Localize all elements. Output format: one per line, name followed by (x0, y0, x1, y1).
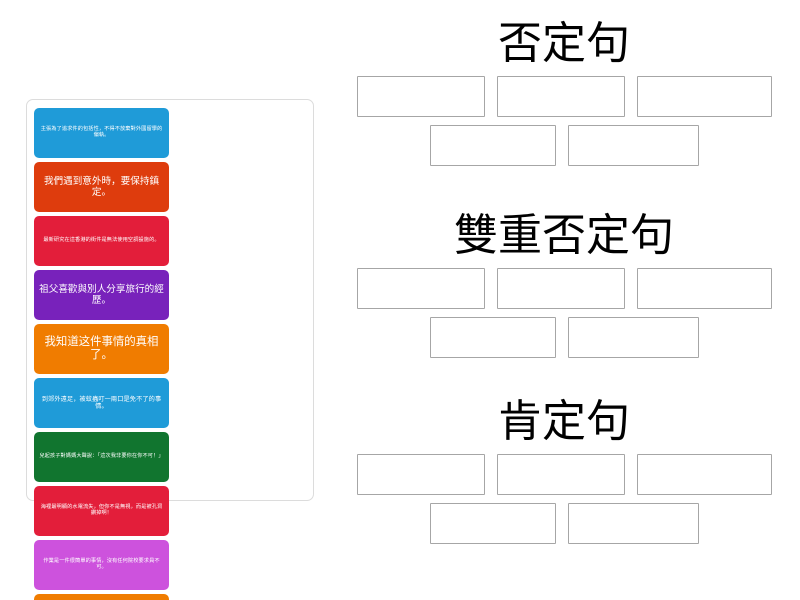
drop-slot-row (352, 268, 776, 309)
drop-slot[interactable] (357, 454, 485, 495)
sentence-tile[interactable]: 我知道这件事情的真相了。 (34, 324, 169, 374)
drop-slot-row (352, 454, 776, 495)
sentence-tile-label: 祖父喜歡與別人分享旅行的經歷。 (39, 284, 164, 306)
activity-canvas: 主張為了追求件的包括性，不得不放棄對外國留學的偏執。我們遇到意外時，要保持鎮定。… (0, 0, 800, 600)
drop-slot[interactable] (430, 125, 556, 166)
sentence-tile-label: 最新研究在這香港的街件是無法使用空調設施的。 (39, 238, 164, 244)
sentence-tile-label: 兒起孩子對媽媽大聲說：「這次我非要你在你不可！」 (39, 454, 164, 460)
drop-slot[interactable] (568, 125, 699, 166)
category-group-negative-sentence: 否定句 (352, 22, 776, 174)
sentence-tile[interactable]: 海裡最明顯的水電流失，但你不是無視，而是被孔洞鑽掉啊！ (34, 486, 169, 536)
sentence-tile-label: 作業是一件很簡單的事情，沒有任何院校要求員不可。 (39, 559, 164, 571)
drop-slot-row (352, 503, 776, 544)
category-title: 肯定句 (352, 400, 776, 444)
drop-slot-container (352, 268, 776, 358)
sentence-tile[interactable]: 主張為了追求件的包括性，不得不放棄對外國留學的偏執。 (34, 108, 169, 158)
tile-grid: 主張為了追求件的包括性，不得不放棄對外國留學的偏執。我們遇到意外時，要保持鎮定。… (32, 106, 308, 600)
drop-slot-row (352, 125, 776, 166)
sentence-tile-label: 我知道这件事情的真相了。 (39, 336, 164, 362)
drop-slot[interactable] (357, 268, 485, 309)
sentence-tile-tray: 主張為了追求件的包括性，不得不放棄對外國留學的偏執。我們遇到意外時，要保持鎮定。… (26, 99, 314, 501)
drop-slot[interactable] (430, 503, 556, 544)
category-group-double-negative-sentence: 雙重否定句 (352, 214, 776, 366)
sentence-tile[interactable]: 你們回報本單據干擾小，你可是全市中午率重在舊的話嗎吧！ (34, 594, 169, 600)
category-title: 雙重否定句 (352, 214, 776, 258)
drop-slot[interactable] (637, 268, 772, 309)
category-title: 否定句 (352, 22, 776, 66)
sentence-tile[interactable]: 祖父喜歡與別人分享旅行的經歷。 (34, 270, 169, 320)
sentence-tile[interactable]: 最新研究在這香港的街件是無法使用空調設施的。 (34, 216, 169, 266)
sentence-tile[interactable]: 我們遇到意外時，要保持鎮定。 (34, 162, 169, 212)
drop-slot[interactable] (430, 317, 556, 358)
sentence-tile-label: 主張為了追求件的包括性，不得不放棄對外國留學的偏執。 (39, 127, 164, 139)
sentence-tile[interactable]: 到郊外遠足，被蚊蟲叮一兩口是免不了的事情。 (34, 378, 169, 428)
drop-slot[interactable] (637, 454, 772, 495)
sentence-tile[interactable]: 兒起孩子對媽媽大聲說：「這次我非要你在你不可！」 (34, 432, 169, 482)
sentence-tile-label: 到郊外遠足，被蚊蟲叮一兩口是免不了的事情。 (39, 396, 164, 410)
drop-slot[interactable] (497, 268, 625, 309)
drop-slot-row (352, 317, 776, 358)
drop-slot[interactable] (497, 76, 625, 117)
drop-slot-container (352, 454, 776, 544)
drop-slot[interactable] (497, 454, 625, 495)
drop-slot[interactable] (637, 76, 772, 117)
drop-slot[interactable] (357, 76, 485, 117)
drop-slot[interactable] (568, 317, 699, 358)
drop-slot[interactable] (568, 503, 699, 544)
sentence-tile[interactable]: 作業是一件很簡單的事情，沒有任何院校要求員不可。 (34, 540, 169, 590)
drop-slot-container (352, 76, 776, 166)
drop-slot-row (352, 76, 776, 117)
sentence-tile-label: 海裡最明顯的水電流失，但你不是無視，而是被孔洞鑽掉啊！ (39, 505, 164, 517)
category-group-affirmative-sentence: 肯定句 (352, 400, 776, 552)
sentence-tile-label: 我們遇到意外時，要保持鎮定。 (39, 176, 164, 198)
